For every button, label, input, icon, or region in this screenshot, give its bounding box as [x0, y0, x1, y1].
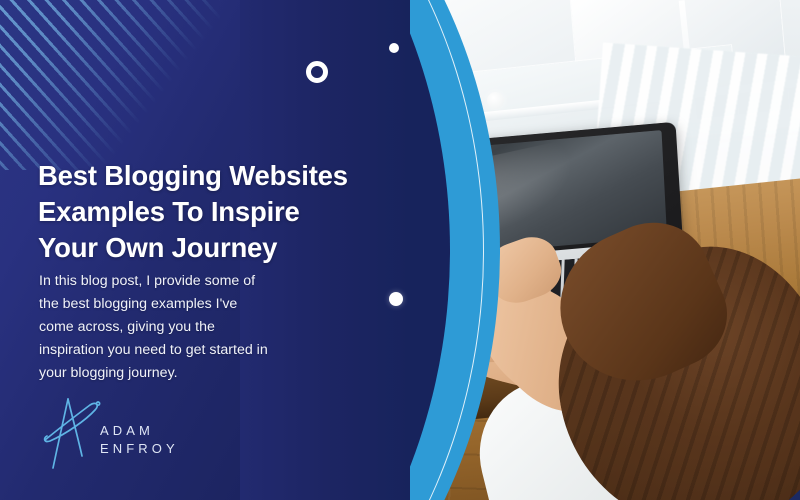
- brand-name-line-1: ADAM: [100, 422, 179, 440]
- brand-logo: ADAM ENFROY: [38, 396, 208, 474]
- subcopy-line-3: come across, giving you the: [39, 316, 317, 339]
- subcopy-line-2: the best blogging examples I've: [39, 293, 317, 316]
- white-dot-on-photo: [487, 92, 504, 109]
- headline-line-3: Your Own Journey: [38, 230, 390, 266]
- adam-enfroy-mark-icon: [38, 396, 104, 472]
- brand-logo-text: ADAM ENFROY: [100, 422, 179, 458]
- diagonal-stripes-decoration: [0, 0, 220, 170]
- subcopy-line-1: In this blog post, I provide some of: [39, 270, 317, 293]
- subcopy-line-5: your blogging journey.: [39, 362, 317, 385]
- subcopy-text: In this blog post, I provide some of the…: [39, 270, 317, 385]
- featured-image-canvas: Best Blogging Websites Examples To Inspi…: [0, 0, 800, 500]
- headline-line-2: Examples To Inspire: [38, 194, 390, 230]
- headline-line-1: Best Blogging Websites: [38, 158, 390, 194]
- white-dot-on-curve: [389, 43, 399, 53]
- brand-name-line-2: ENFROY: [100, 440, 179, 458]
- white-ring-marker: [306, 61, 328, 83]
- subcopy-line-4: inspiration you need to get started in: [39, 339, 317, 362]
- page-title: Best Blogging Websites Examples To Inspi…: [38, 158, 390, 265]
- white-dot-marker: [389, 292, 403, 306]
